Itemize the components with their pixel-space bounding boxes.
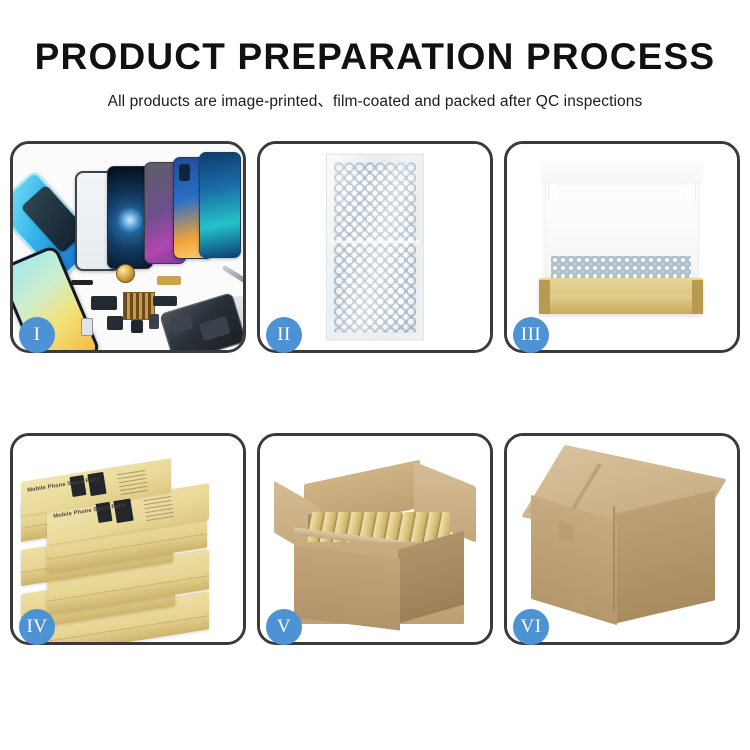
spec-lines-icon — [143, 496, 174, 524]
inner-box-placement-image — [507, 144, 737, 350]
button-flex-icon — [149, 314, 159, 329]
sealed-carton-image — [507, 436, 737, 642]
page-title: PRODUCT PREPARATION PROCESS — [0, 0, 750, 75]
phone-parts-assortment-image — [13, 144, 243, 350]
process-step-panel-4[interactable]: Mobile Phone Spare Parts Mobile Phone Sp… — [10, 433, 246, 645]
step-badge-1: I — [19, 317, 55, 353]
carton-filling-image — [260, 436, 490, 642]
step-badge-2: II — [266, 317, 302, 353]
open-carton-icon — [278, 466, 476, 624]
bubble-wrap-bag-icon — [326, 154, 424, 341]
small-flex-icon — [153, 296, 177, 306]
spare-parts-group — [71, 262, 243, 350]
process-step-panel-3[interactable]: III — [504, 141, 740, 353]
tweezers-icon — [222, 265, 243, 284]
spec-lines-icon — [117, 470, 148, 498]
step-badge-6: VI — [513, 609, 549, 645]
flex-connector-icon — [91, 296, 117, 310]
gold-contact-icon — [157, 276, 181, 285]
phone-lineup-group — [13, 144, 243, 263]
product-preparation-infographic: PRODUCT PREPARATION PROCESS All products… — [0, 0, 750, 750]
bubble-wrap-image — [260, 144, 490, 350]
process-step-panel-5[interactable]: V — [257, 433, 493, 645]
step-badge-3: III — [513, 317, 549, 353]
screen-print-icon — [87, 472, 106, 496]
process-step-panel-6[interactable]: VI — [504, 433, 740, 645]
flex-cable-icon — [71, 280, 93, 285]
step-badge-4: IV — [19, 609, 55, 645]
camera-module-icon — [107, 316, 123, 330]
speaker-coil-icon — [116, 264, 135, 283]
teal-phone-icon — [199, 152, 241, 258]
page-subtitle: All products are image-printed、film-coat… — [0, 75, 750, 111]
plastic-sheen-icon — [327, 155, 423, 340]
stacked-retail-boxes-image: Mobile Phone Spare Parts Mobile Phone Sp… — [13, 436, 243, 642]
carton-front-face-icon — [294, 545, 400, 630]
box-stack-group: Mobile Phone Spare Parts Mobile Phone Sp… — [19, 452, 239, 634]
kraft-tray-icon — [539, 278, 703, 314]
process-step-grid: I II III — [10, 141, 740, 685]
process-step-panel-2[interactable]: II — [257, 141, 493, 353]
step-badge-5: V — [266, 609, 302, 645]
header: PRODUCT PREPARATION PROCESS All products… — [0, 0, 750, 111]
carton-edge-icon — [613, 506, 615, 612]
sim-tray-icon — [81, 318, 93, 336]
process-step-panel-1[interactable]: I — [10, 141, 246, 353]
vibrator-icon — [131, 320, 143, 333]
carton-right-face-icon — [615, 490, 715, 623]
sealed-carton-icon — [529, 462, 719, 628]
